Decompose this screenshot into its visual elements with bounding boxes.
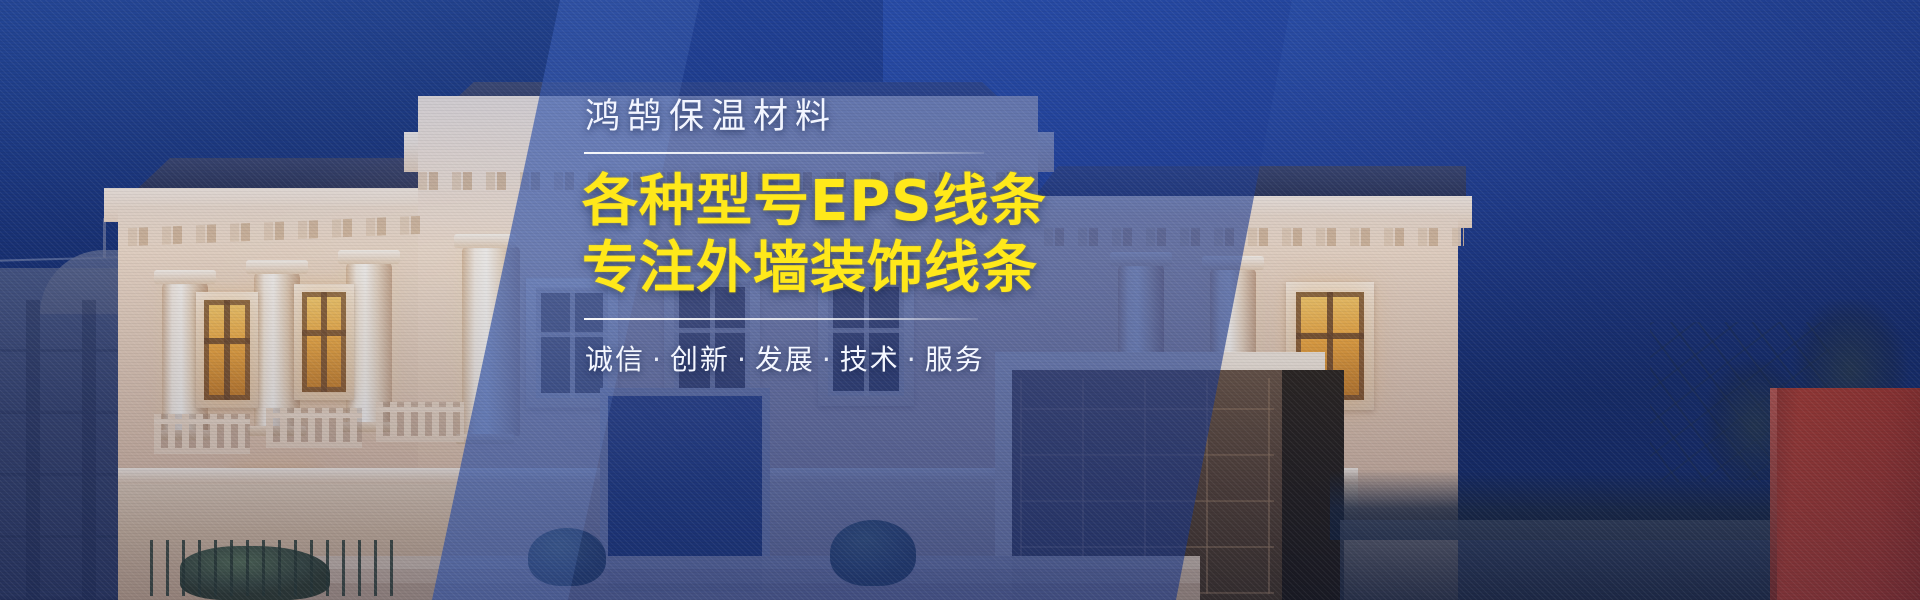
banner-copy: 鸿鹄保温材料 各种型号EPS线条 专注外墙装饰线条 诚信·创新·发展·技术·服务	[582, 96, 1342, 378]
headline-line-1: 各种型号EPS线条	[582, 170, 1342, 235]
balustrade	[266, 408, 362, 448]
tagline-separator: ·	[822, 343, 833, 376]
balustrade	[154, 414, 250, 454]
tagline-separator: ·	[907, 343, 918, 376]
tagline-item: 服务	[925, 343, 985, 376]
tagline-item: 发展	[755, 343, 815, 376]
red-wall	[1770, 388, 1920, 600]
shrub	[528, 528, 606, 586]
tagline: 诚信·创新·发展·技术·服务	[585, 338, 1342, 378]
balustrade	[376, 402, 464, 442]
garden-railing	[150, 540, 400, 596]
right-ground	[1340, 520, 1800, 600]
left-wing-roof	[122, 158, 422, 192]
shrub	[830, 520, 916, 586]
tagline-item: 诚信	[585, 343, 645, 376]
tagline-separator: ·	[737, 343, 748, 376]
lit-window	[204, 300, 250, 400]
divider-bottom	[584, 318, 978, 320]
tagline-item: 创新	[670, 343, 730, 376]
tagline-separator: ·	[652, 343, 663, 376]
tagline-item: 技术	[840, 343, 900, 376]
brand-name: 鸿鹄保温材料	[585, 96, 1342, 138]
hero-banner: 鸿鹄保温材料 各种型号EPS线条 专注外墙装饰线条 诚信·创新·发展·技术·服务	[0, 0, 1920, 600]
lit-window	[302, 292, 346, 392]
divider-top	[584, 152, 984, 154]
red-wall-edge	[1770, 388, 1777, 600]
headline-line-2: 专注外墙装饰线条	[582, 237, 1342, 302]
front-steps	[300, 556, 1200, 600]
column	[462, 246, 520, 436]
